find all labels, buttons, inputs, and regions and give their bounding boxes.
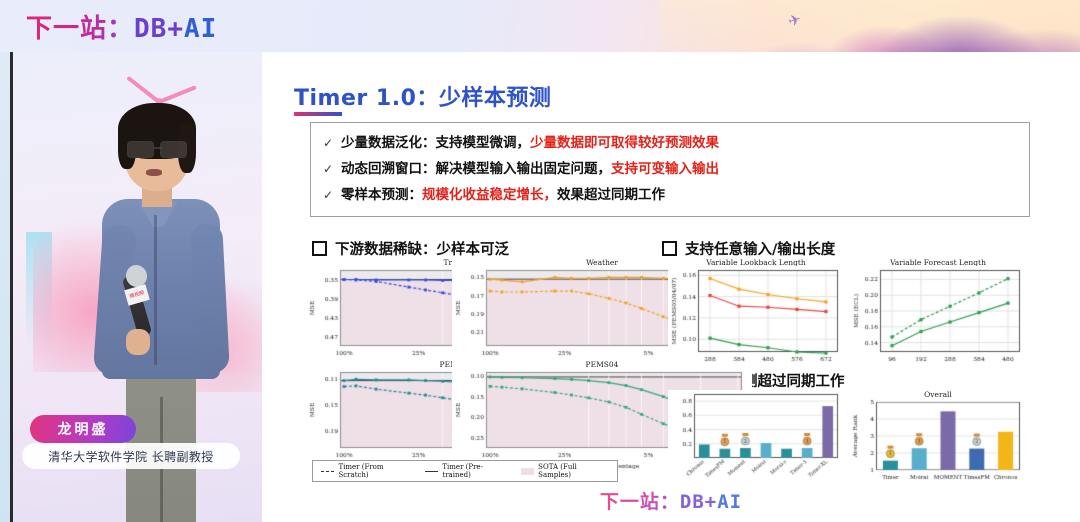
legend-label-scratch: Timer (From Scratch) [338,463,412,479]
solid-line-icon [425,471,438,472]
banner-mountain-art [660,0,1080,52]
chart-lookback-canvas [668,266,844,370]
chart-lookback: Variable Lookback Length [668,258,844,370]
top-banner: ✈ 下一站：DB+AI [0,0,1080,52]
chart-forecast-canvas [850,266,1026,370]
bullet-row-1: ✓ 少量数据泛化：支持模型微调， 少量数据即可取得较好预测效果 [311,130,1029,156]
section-2-label: 支持任意输入/输出长度 [685,238,835,259]
slide-title: Timer 1.0：少样本预测 [294,80,551,112]
legend-item-sota: SOTA (Full Samples) [521,463,609,479]
banner-title-plus: + [167,14,184,44]
legend-label-pretrained: Timer (Pre-trained) [442,463,508,479]
bullet-2-highlight: 支持可变输入输出 [611,159,719,179]
square-bullet-icon [662,241,677,256]
chart-legend: Timer (From Scratch) Timer (Pre-trained)… [312,460,618,482]
title-underline [294,112,342,116]
banner-title-ai: AI [184,14,217,44]
banner-title: 下一站：DB+AI [26,8,217,45]
bullet-row-2: ✓ 动态回溯窗口：解决模型输入输出固定问题， 支持可变输入输出 [311,156,1029,182]
speaker-role-badge: 清华大学软件学院 长聘副教授 [22,443,240,469]
banner-title-db: DB [134,14,167,44]
screenshot-root: ✈ 下一站：DB+AI [0,0,1080,522]
chart-zeroshot-canvas [668,390,844,488]
eyeglasses-icon [127,141,187,157]
footer-db: DB [680,491,705,513]
bullet-1-highlight: 少量数据即可取得较好预测效果 [530,133,719,153]
speaker-video-panel: 微视频 龙明盛 清华大学软件学院 长聘副教授 [0,52,262,522]
legend-label-sota: SOTA (Full Samples) [538,463,609,479]
chart-overall-canvas [850,398,1026,488]
section-heading-1: 下游数据稀缺：少样本可泛 [312,238,509,259]
section-1-label: 下游数据稀缺：少样本可泛 [335,238,509,259]
band-swatch-icon [521,468,534,475]
bullet-box: ✓ 少量数据泛化：支持模型微调， 少量数据即可取得较好预测效果 ✓ 动态回溯窗口… [310,122,1030,217]
banner-title-cn: 下一站： [26,14,134,44]
chart-zeroshot-bars [668,390,844,488]
footer-ai: AI [717,491,742,513]
chart-forecast: Variable Forecast Length [850,258,1026,370]
stage-left-edge [0,52,10,522]
check-icon: ✓ [323,185,341,205]
slide-content: Timer 1.0：少样本预测 ✓ 少量数据泛化：支持模型微调， 少量数据即可取… [270,60,1068,488]
check-icon: ✓ [323,133,341,153]
speaker-name-badge: 龙明盛 [30,415,136,443]
bullet-3-highlight: 规模化收益稳定增长， [422,185,557,205]
footer-watermark: 下一站：DB+AI [262,487,1080,514]
legend-item-scratch: Timer (From Scratch) [321,463,413,479]
check-icon: ✓ [323,159,341,179]
bullet-2-plain: 动态回溯窗口：解决模型输入输出固定问题， [341,159,611,179]
bullet-row-3: ✓ 零样本预测： 规模化收益稳定增长， 效果超过同期工作 [311,182,1029,208]
bullet-1-plain: 少量数据泛化：支持模型微调， [341,133,530,153]
bullet-3-plain: 零样本预测： [341,185,422,205]
dashed-line-icon [321,471,334,472]
slide-area: Timer 1.0：少样本预测 ✓ 少量数据泛化：支持模型微调， 少量数据即可取… [262,52,1080,522]
legend-item-pretrained: Timer (Pre-trained) [425,463,509,479]
bullet-3-plain-2: 效果超过同期工作 [557,185,665,205]
footer-plus: + [705,491,717,513]
section-heading-2: 支持任意输入/输出长度 [662,238,835,259]
footer-cn: 下一站： [600,491,680,513]
chart-overall-rank: Overall [850,390,1026,488]
square-bullet-icon [312,241,327,256]
